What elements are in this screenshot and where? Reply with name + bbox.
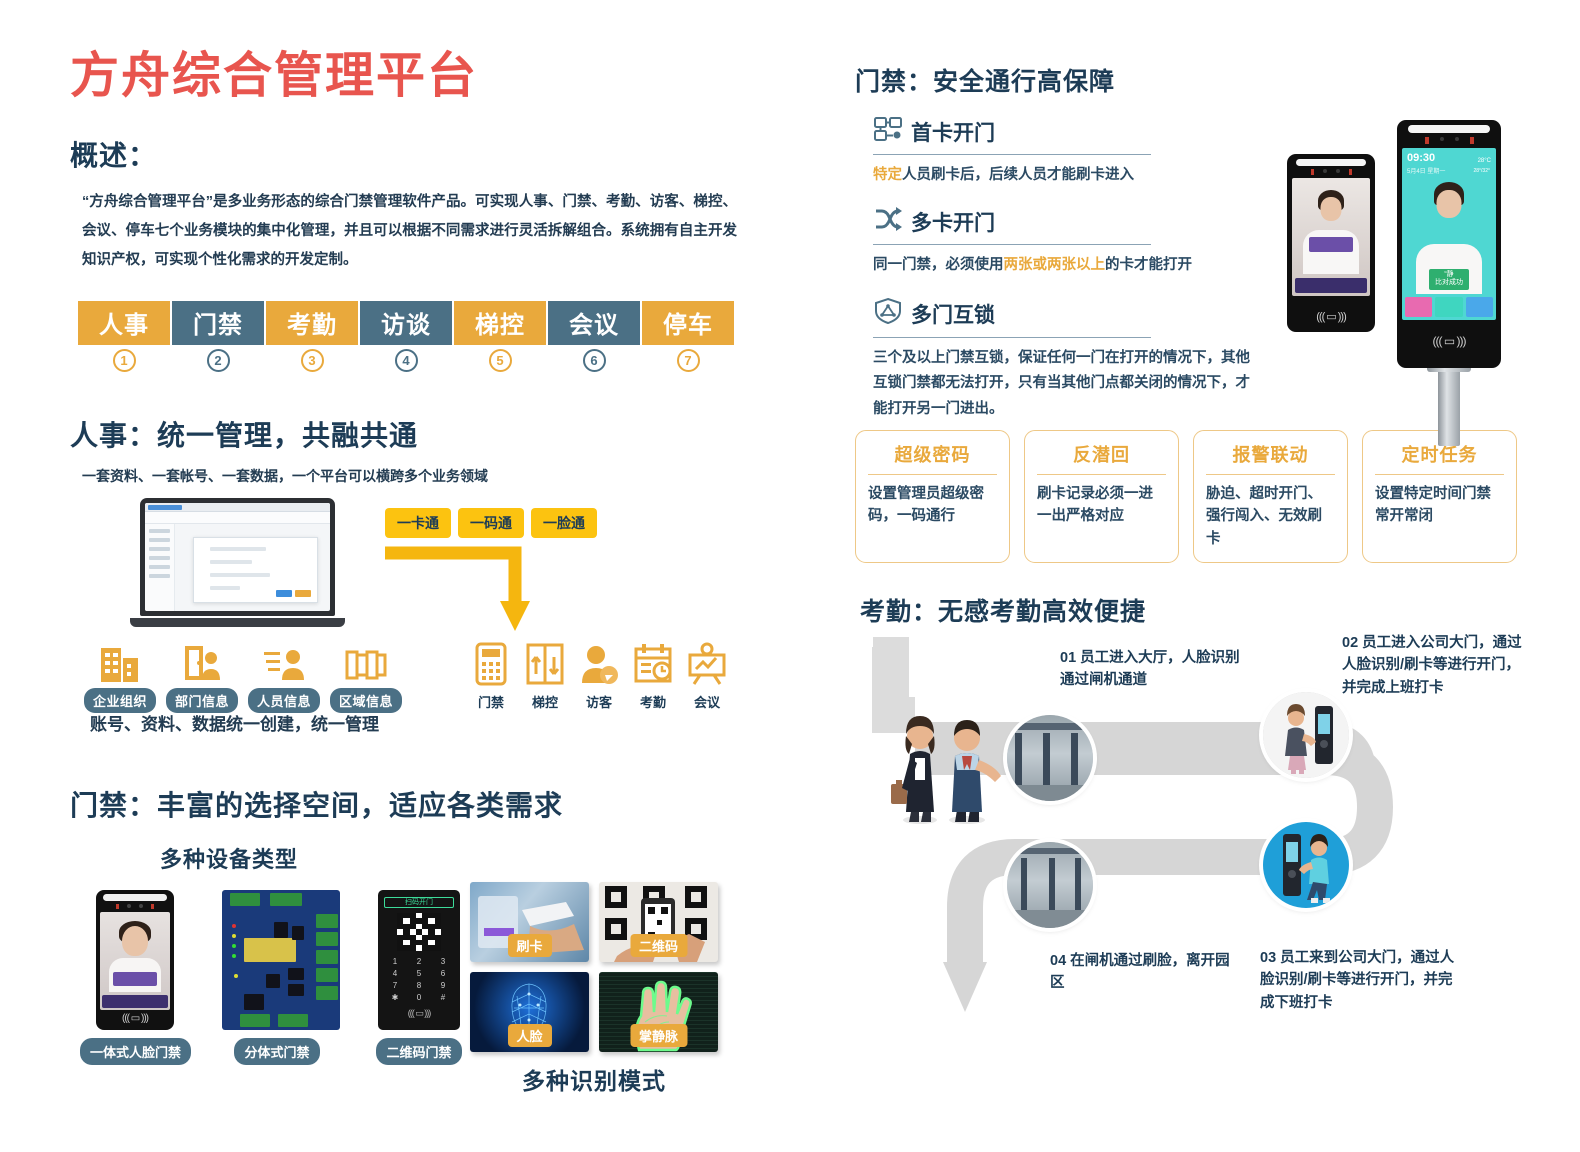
module-tab-label: 门禁	[172, 301, 264, 345]
building-icon	[84, 638, 156, 684]
qr-keypad-icon: 扫码开门 123456789✱0#	[364, 890, 474, 1030]
access-device-heading: 门禁：丰富的选择空间，适应各类需求	[70, 784, 760, 824]
elevator-icon	[524, 638, 566, 686]
security-feature: 多卡开门 同一门禁，必须使用两张或两张以上的卡才能打开	[873, 206, 1293, 278]
hr-caption: 账号、资料、数据统一创建，统一管理	[90, 710, 379, 735]
system-icon-item[interactable]: 梯控	[524, 638, 566, 711]
system-icon-label: 会议	[686, 692, 728, 711]
area-map-icon	[330, 638, 402, 684]
module-tab-number: 7	[677, 349, 700, 372]
hr-icon-item[interactable]: 人员信息	[248, 638, 320, 713]
module-tab[interactable]: 会议 6	[548, 301, 640, 372]
security-card-title: 报警联动	[1206, 441, 1335, 475]
device-item[interactable]: ((( ▭ ))) 一体式人脸门禁	[80, 890, 190, 1065]
device-item[interactable]: 扫码开门 123456789✱0#	[364, 890, 474, 1065]
recognition-card[interactable]: 掌静脉	[599, 972, 718, 1052]
security-card-desc: 刷卡记录必须一进一出严格对应	[1037, 483, 1166, 528]
qr-panel-text: 扫码开门	[384, 897, 454, 908]
security-card[interactable]: 反潜回 刷卡记录必须一进一出严格对应	[1024, 430, 1179, 563]
device-label: 二维码门禁	[376, 1038, 461, 1065]
pass-badge[interactable]: 一脸通	[531, 508, 597, 538]
device-label: 分体式门禁	[234, 1038, 319, 1065]
wall-face-terminal: ((( ▭ )))	[1287, 154, 1375, 332]
access-device-section: 门禁：丰富的选择空间，适应各类需求 多种设备类型	[70, 784, 760, 1152]
module-tab-label: 梯控	[454, 301, 546, 345]
security-card[interactable]: 报警联动 胁迫、超时开门、强行闯入、无效刷卡	[1193, 430, 1348, 563]
terminal-temp-range: 28°/32°	[1473, 168, 1490, 174]
security-feature: 首卡开门 特定人员刷卡后，后续人员才能刷卡进入	[873, 116, 1293, 188]
system-icon-label: 门禁	[470, 692, 512, 711]
hr-icon-item[interactable]: 部门信息	[166, 638, 238, 713]
interlock-shield-icon	[873, 297, 903, 331]
overview-body: “方舟综合管理平台”是多业务形态的综合门禁管理软件产品。可实现人事、门禁、考勤、…	[82, 188, 737, 275]
terminal-status-1: “静	[1444, 271, 1453, 278]
terminal-pole	[1438, 370, 1460, 446]
system-icon-label: 考勤	[632, 692, 674, 711]
security-card[interactable]: 定时任务 设置特定时间门禁常开常闭	[1362, 430, 1517, 563]
security-card[interactable]: 超级密码 设置管理员超级密码，一码通行	[855, 430, 1010, 563]
visitor-icon	[578, 638, 620, 686]
security-card-title: 定时任务	[1375, 441, 1504, 475]
security-feature-title: 多门互锁	[911, 299, 995, 329]
access-device-subtitle: 多种设备类型	[160, 842, 760, 874]
system-icon-item[interactable]: 会议	[686, 638, 728, 711]
module-tab-number: 1	[113, 349, 136, 372]
divider	[873, 154, 1151, 155]
recognition-caption: 多种识别模式	[470, 1062, 718, 1096]
keypad-icon	[470, 638, 512, 686]
hr-section: 人事：统一管理，共融共通 一套资料、一套帐号、一套数据，一个平台可以横跨多个业务…	[70, 414, 760, 758]
attendance-flow: 01 员工进入大厅，人脸识别通过闸机通道 02 员工进入公司大门，通过人脸识别/…	[855, 637, 1535, 1037]
system-icon-item[interactable]: 门禁	[470, 638, 512, 711]
desc-text: 的卡才能打开	[1105, 257, 1192, 273]
desc-text: 人员刷卡后，后续人员才能刷卡进入	[902, 167, 1134, 183]
module-tab-number: 5	[489, 349, 512, 372]
face-terminal-icon: ((( ▭ )))	[80, 890, 190, 1030]
flow-arrow-icon	[382, 543, 612, 643]
module-tab-label: 停车	[642, 301, 734, 345]
access-security-heading: 门禁：安全通行高保障	[855, 62, 1525, 98]
attendance-step-text: 03 员工来到公司大门，通过人脸识别/刷卡等进行开门，并完成下班打卡	[1260, 947, 1460, 1014]
module-tab[interactable]: 门禁 2	[172, 301, 264, 372]
terminal-temp: 28°C	[1478, 158, 1491, 164]
module-tab[interactable]: 人事 1	[78, 301, 170, 372]
module-tab-label: 访谈	[360, 301, 452, 345]
controller-board-icon	[222, 890, 332, 1030]
department-icon	[166, 638, 238, 684]
people-illustration	[885, 692, 1015, 837]
security-feature-title: 多卡开门	[911, 207, 995, 237]
attendance-node[interactable]	[1007, 842, 1093, 928]
recognition-label: 人脸	[507, 1024, 551, 1047]
system-icon-item[interactable]: 考勤	[632, 638, 674, 711]
attendance-node[interactable]	[1263, 692, 1349, 778]
person-terminal-blue	[1263, 822, 1349, 908]
module-tabs: 人事 1 门禁 2 考勤 3 访谈 4 梯控 5 会议 6	[78, 301, 760, 372]
face-terminal-devices: ((( ▭ ))) 09:30 5月4日 星期一 28°C 28°/32°	[1275, 112, 1525, 402]
terminal-status-2: 比对成功	[1435, 279, 1463, 286]
hr-icon-item[interactable]: 区域信息	[330, 638, 402, 713]
highlight-text: 特定	[873, 167, 902, 183]
module-tab-number: 4	[395, 349, 418, 372]
security-feature-desc: 三个及以上门禁互锁，保证任何一门在打开的情况下，其他互锁门禁都无法打开，只有当其…	[873, 346, 1263, 422]
recognition-mode-grid: 刷卡	[470, 882, 718, 1096]
device-photo-row: ((( ▭ ))) 一体式人脸门禁	[80, 890, 474, 1065]
divider	[873, 244, 1151, 245]
attendance-step-text: 02 员工进入公司大门，通过人脸识别/刷卡等进行开门，并完成上班打卡	[1342, 632, 1532, 699]
security-feature-title: 首卡开门	[911, 117, 995, 147]
person-list-icon	[248, 638, 320, 684]
security-card-title: 反潜回	[1037, 441, 1166, 475]
desc-text: 同一门禁，必须使用	[873, 257, 1004, 273]
security-card-desc: 胁迫、超时开门、强行闯入、无效刷卡	[1206, 483, 1335, 550]
security-card-desc: 设置特定时间门禁常开常闭	[1375, 483, 1504, 528]
gate-photo	[1007, 842, 1093, 928]
system-icon-label: 梯控	[524, 692, 566, 711]
left-column: 方舟综合管理平台 概述： “方舟综合管理平台”是多业务形态的综合门禁管理软件产品…	[70, 50, 760, 1152]
pass-badge[interactable]: 一卡通	[385, 508, 451, 538]
laptop-screenshot	[130, 498, 345, 627]
recognition-label: 二维码	[630, 934, 687, 957]
module-tab[interactable]: 梯控 5	[454, 301, 546, 372]
presentation-icon	[686, 638, 728, 686]
hr-icon-item[interactable]: 企业组织	[84, 638, 156, 713]
device-item[interactable]: 分体式门禁	[222, 890, 332, 1065]
divider	[873, 337, 1151, 338]
system-icon-label: 访客	[578, 692, 620, 711]
module-tab-label: 考勤	[266, 301, 358, 345]
module-tab-number: 2	[207, 349, 230, 372]
module-tab-label: 会议	[548, 301, 640, 345]
person-terminal	[1263, 692, 1349, 778]
attendance-node[interactable]	[1007, 715, 1093, 801]
recognition-card[interactable]: 人脸	[470, 972, 589, 1052]
system-icon-item[interactable]: 访客	[578, 638, 620, 711]
overview-heading: 概述：	[70, 134, 760, 174]
pass-badge[interactable]: 一码通	[458, 508, 524, 538]
security-card-title: 超级密码	[868, 441, 997, 475]
module-tab[interactable]: 考勤 3	[266, 301, 358, 372]
module-tab-number: 3	[301, 349, 324, 372]
attendance-heading: 考勤：无感考勤高效便捷	[860, 592, 1146, 628]
module-tab-number: 6	[583, 349, 606, 372]
security-card-row: 超级密码 设置管理员超级密码，一码通行 反潜回 刷卡记录必须一进一出严格对应 报…	[855, 430, 1517, 563]
hr-icon-row: 企业组织 部门信息	[84, 638, 402, 713]
terminal-date: 5月4日 星期一	[1407, 166, 1445, 175]
pole-face-terminal: 09:30 5月4日 星期一 28°C 28°/32° “静 比对成功 ((( …	[1397, 120, 1501, 368]
gate-photo	[1007, 715, 1093, 801]
security-feature: 多门互锁 三个及以上门禁互锁，保证任何一门在打开的情况下，其他互锁门禁都无法打开…	[873, 297, 1293, 422]
recognition-card[interactable]: 二维码	[599, 882, 718, 962]
attendance-node[interactable]	[1263, 822, 1349, 908]
module-tab[interactable]: 访谈 4	[360, 301, 452, 372]
first-card-icon	[873, 116, 903, 148]
module-tab-label: 人事	[78, 301, 170, 345]
recognition-card[interactable]: 刷卡	[470, 882, 589, 962]
terminal-time: 09:30	[1407, 152, 1435, 164]
security-feature-desc: 特定人员刷卡后，后续人员才能刷卡进入	[873, 163, 1293, 188]
device-label: 一体式人脸门禁	[80, 1038, 191, 1065]
pass-badges: 一卡通 一码通 一脸通	[385, 508, 597, 538]
system-icon-row: 门禁 梯控	[470, 638, 728, 711]
security-feature-desc: 同一门禁，必须使用两张或两张以上的卡才能打开	[873, 253, 1293, 278]
security-card-desc: 设置管理员超级密码，一码通行	[868, 483, 997, 528]
multi-card-icon	[873, 206, 903, 238]
page-title: 方舟综合管理平台	[70, 50, 760, 104]
hr-heading: 人事：统一管理，共融共通	[70, 414, 760, 454]
attendance-step-text: 01 员工进入大厅，人脸识别通过闸机通道	[1060, 647, 1245, 692]
recognition-label: 掌静脉	[630, 1024, 687, 1047]
module-tab[interactable]: 停车 7	[642, 301, 734, 372]
brochure-page: 方舟综合管理平台 概述： “方舟综合管理平台”是多业务形态的综合门禁管理软件产品…	[0, 0, 1580, 1117]
recognition-label: 刷卡	[507, 934, 551, 957]
hr-subtitle: 一套资料、一套帐号、一套数据，一个平台可以横跨多个业务领域	[82, 466, 760, 486]
attendance-step-text: 04 在闸机通过刷脸，离开园区	[1050, 950, 1240, 995]
calendar-clock-icon	[632, 638, 674, 686]
highlight-text: 两张或两张以上	[1004, 257, 1106, 273]
